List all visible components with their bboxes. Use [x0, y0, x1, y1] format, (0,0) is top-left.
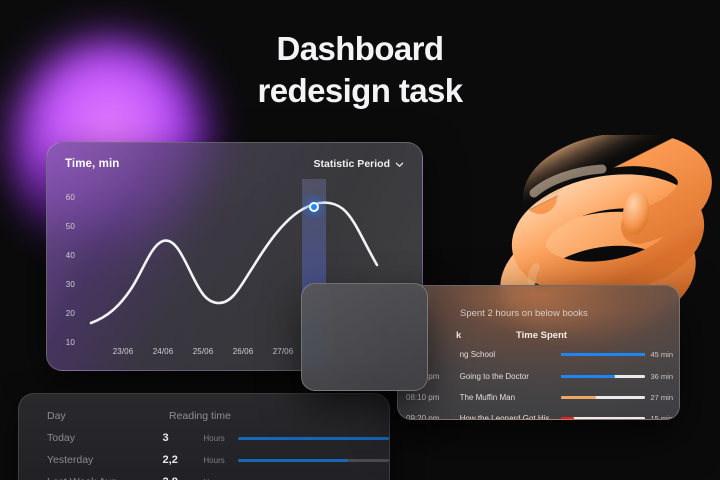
- row-book-title: The Muffin Man: [460, 393, 561, 402]
- books-time-spent-card: 9 Spent 2 hours on below books k Time Sp…: [397, 285, 680, 420]
- col-header-reading-time: Reading time: [169, 410, 231, 422]
- screenshot-stage: Dashboard redesign task Time, min Statis…: [0, 0, 720, 480]
- y-tick-10: 10: [59, 338, 75, 347]
- table-row[interactable]: Yesterday 2,2 Hours: [19, 444, 389, 466]
- y-tick-40: 40: [59, 251, 75, 260]
- chevron-down-icon: [395, 160, 404, 169]
- row-progress-bar: [238, 459, 390, 462]
- col-header-book: k: [456, 330, 516, 341]
- books-card-subtitle: Spent 2 hours on below books: [460, 308, 588, 319]
- row-minutes: 27 min: [645, 393, 679, 402]
- statistic-period-label: Statistic Period: [314, 158, 390, 170]
- date-detail-popup-card[interactable]: [301, 283, 428, 391]
- y-tick-30: 30: [59, 280, 75, 289]
- row-progress-bar: [238, 437, 390, 440]
- x-tick-24-06[interactable]: 24/06: [143, 347, 183, 356]
- row-time: 09:20 pm: [398, 414, 460, 420]
- row-unit: Hours: [203, 434, 237, 443]
- row-book-title: ng School: [460, 350, 561, 359]
- row-value: 2,8: [163, 476, 201, 480]
- reading-table-header: Day Reading time: [19, 394, 389, 422]
- table-row[interactable]: 06:40 pm Going to the Doctor 36 min: [398, 372, 679, 381]
- table-row[interactable]: Last Week Avg 2,8 Hours: [19, 466, 389, 480]
- table-row[interactable]: 08:10 pm The Muffin Man 27 min: [398, 393, 679, 402]
- row-progress-bar: [561, 417, 645, 420]
- row-value: 3: [163, 432, 201, 444]
- y-tick-60: 60: [59, 193, 75, 202]
- x-tick-23-06[interactable]: 23/06: [103, 347, 143, 356]
- row-book-title: How the Leopard Got His...: [460, 414, 561, 420]
- row-minutes: 36 min: [645, 372, 679, 381]
- y-tick-20: 20: [59, 309, 75, 318]
- row-unit: Hours: [203, 456, 237, 465]
- x-tick-25-06[interactable]: 25/06: [183, 347, 223, 356]
- table-row[interactable]: 09:20 pm How the Leopard Got His... 15 m…: [398, 414, 679, 420]
- page-title-line1: Dashboard: [277, 30, 444, 67]
- y-tick-50: 50: [59, 222, 75, 231]
- page-title: Dashboard redesign task: [0, 28, 720, 111]
- chart-active-point[interactable]: [309, 202, 319, 212]
- row-day-today: Today: [47, 432, 163, 444]
- row-minutes: 45 min: [645, 350, 679, 359]
- chart-card-header: Time, min Statistic Period: [47, 158, 422, 170]
- table-row[interactable]: Today 3 Hours: [19, 422, 389, 444]
- statistic-period-dropdown[interactable]: Statistic Period: [314, 158, 404, 170]
- table-row[interactable]: ng School 45 min: [398, 350, 679, 359]
- row-progress-bar: [561, 375, 645, 379]
- page-title-line2: redesign task: [0, 70, 720, 112]
- col-header-day: Day: [47, 410, 169, 422]
- row-day-last-week-avg: Last Week Avg: [47, 476, 163, 480]
- x-tick-27-06[interactable]: 27/06: [263, 347, 303, 356]
- x-tick-26-06[interactable]: 26/06: [223, 347, 263, 356]
- col-header-time-spent: Time Spent: [516, 330, 567, 341]
- row-progress-bar: [561, 353, 645, 357]
- row-day-yesterday: Yesterday: [47, 454, 163, 466]
- row-progress-bar: [561, 396, 645, 400]
- row-value: 2,2: [163, 454, 201, 466]
- row-minutes: 15 min: [645, 414, 679, 420]
- row-book-title: Going to the Doctor: [460, 372, 561, 381]
- row-time: 08:10 pm: [398, 393, 460, 402]
- books-table-header: k Time Spent: [398, 330, 679, 341]
- chart-axis-title: Time, min: [65, 158, 119, 170]
- reading-time-card: Day Reading time Today 3 Hours Yesterday…: [18, 393, 390, 480]
